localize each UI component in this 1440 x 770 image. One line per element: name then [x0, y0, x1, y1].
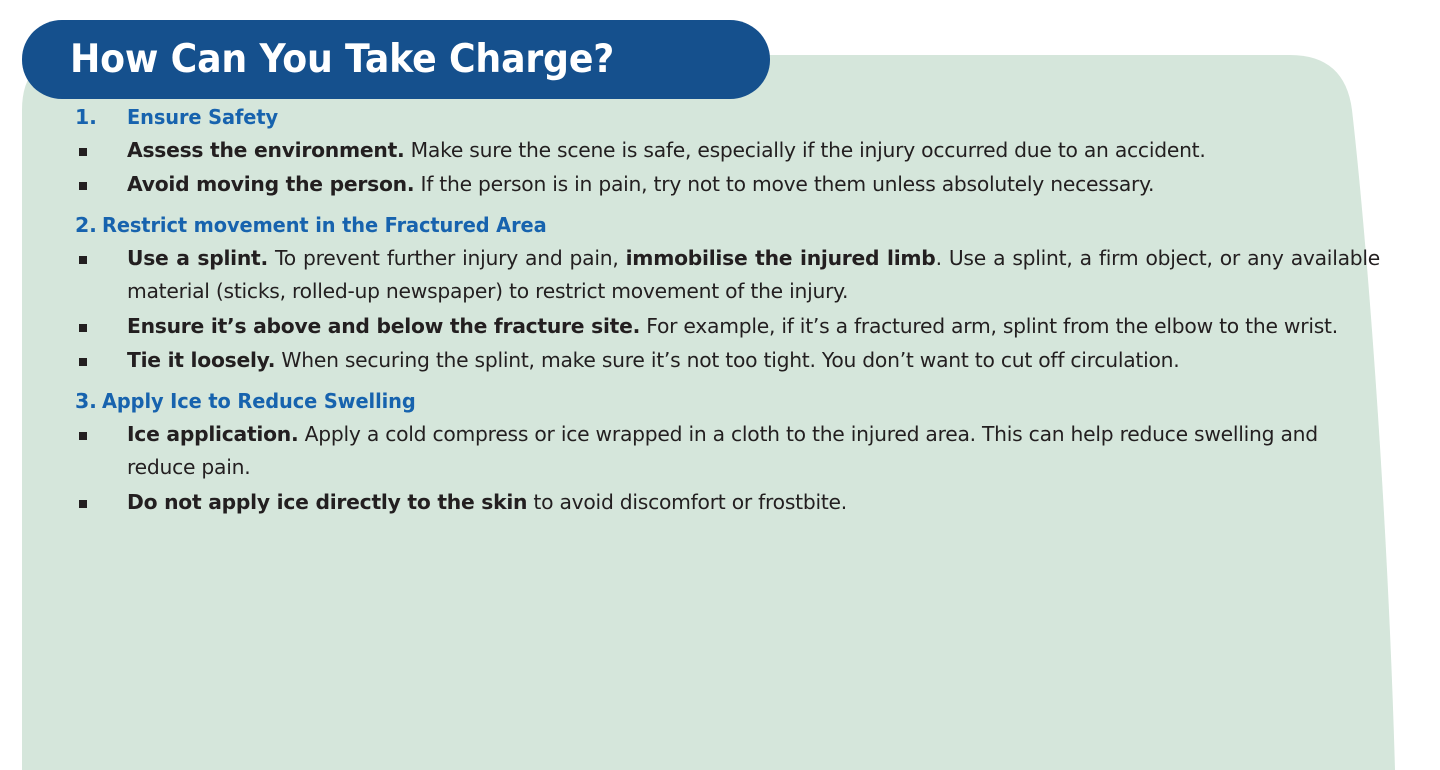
section-title-3: Apply Ice to Reduce Swelling	[102, 390, 416, 413]
section-1: 1.Ensure Safety Assess the environment. …	[0, 106, 1440, 202]
bullet-lead: Ice application.	[127, 422, 298, 446]
section-number-1: 1.	[75, 106, 127, 129]
list-item: Tie it loosely. When securing the splint…	[0, 344, 1440, 378]
bullet-list-2: Use a splint. To prevent further injury …	[0, 242, 1440, 378]
bullet-list-3: Ice application. Apply a cold compress o…	[0, 418, 1440, 520]
list-item: Ensure it’s above and below the fracture…	[0, 310, 1440, 344]
bullet-lead: Avoid moving the person.	[127, 172, 414, 196]
bullet-rest: When securing the splint, make sure it’s…	[275, 348, 1179, 372]
section-2: 2.Restrict movement in the Fractured Are…	[0, 214, 1440, 378]
bullet-lead: Do not apply ice directly to the skin	[127, 490, 527, 514]
section-title-2: Restrict movement in the Fractured Area	[102, 214, 547, 237]
section-heading-3: 3.Apply Ice to Reduce Swelling	[0, 390, 1440, 413]
bullet-rest: Apply a cold compress or ice wrapped in …	[127, 422, 1318, 480]
section-heading-1: 1.Ensure Safety	[0, 106, 1440, 129]
bullet-rest: For example, if it’s a fractured arm, sp…	[640, 314, 1338, 338]
bullet-mid-bold: immobilise the injured limb	[626, 246, 936, 270]
section-title-1: Ensure Safety	[127, 106, 278, 129]
section-heading-2: 2.Restrict movement in the Fractured Are…	[0, 214, 1440, 237]
bullet-rest: Make sure the scene is safe, especially …	[404, 138, 1205, 162]
bullet-lead: Assess the environment.	[127, 138, 404, 162]
list-item: Ice application. Apply a cold compress o…	[0, 418, 1440, 485]
title-pill: How Can You Take Charge?	[22, 20, 770, 99]
poster-root: How Can You Take Charge? 1.Ensure Safety…	[0, 0, 1440, 770]
list-item: Do not apply ice directly to the skin to…	[0, 486, 1440, 520]
page-title: How Can You Take Charge?	[70, 40, 614, 79]
bullet-list-1: Assess the environment. Make sure the sc…	[0, 134, 1440, 202]
bullet-rest: To prevent further injury and pain,	[268, 246, 626, 270]
list-item: Avoid moving the person. If the person i…	[0, 168, 1440, 202]
bullet-lead: Use a splint.	[127, 246, 268, 270]
list-item: Use a splint. To prevent further injury …	[0, 242, 1440, 309]
bullet-lead: Ensure it’s above and below the fracture…	[127, 314, 640, 338]
bullet-rest: If the person is in pain, try not to mov…	[414, 172, 1154, 196]
bullet-lead: Tie it loosely.	[127, 348, 275, 372]
section-3: 3.Apply Ice to Reduce Swelling Ice appli…	[0, 390, 1440, 519]
section-number-3: 3.	[75, 390, 97, 413]
content-area: 1.Ensure Safety Assess the environment. …	[0, 106, 1440, 520]
list-item: Assess the environment. Make sure the sc…	[0, 134, 1440, 168]
section-number-2: 2.	[75, 214, 97, 237]
bullet-rest: to avoid discomfort or frostbite.	[527, 490, 847, 514]
